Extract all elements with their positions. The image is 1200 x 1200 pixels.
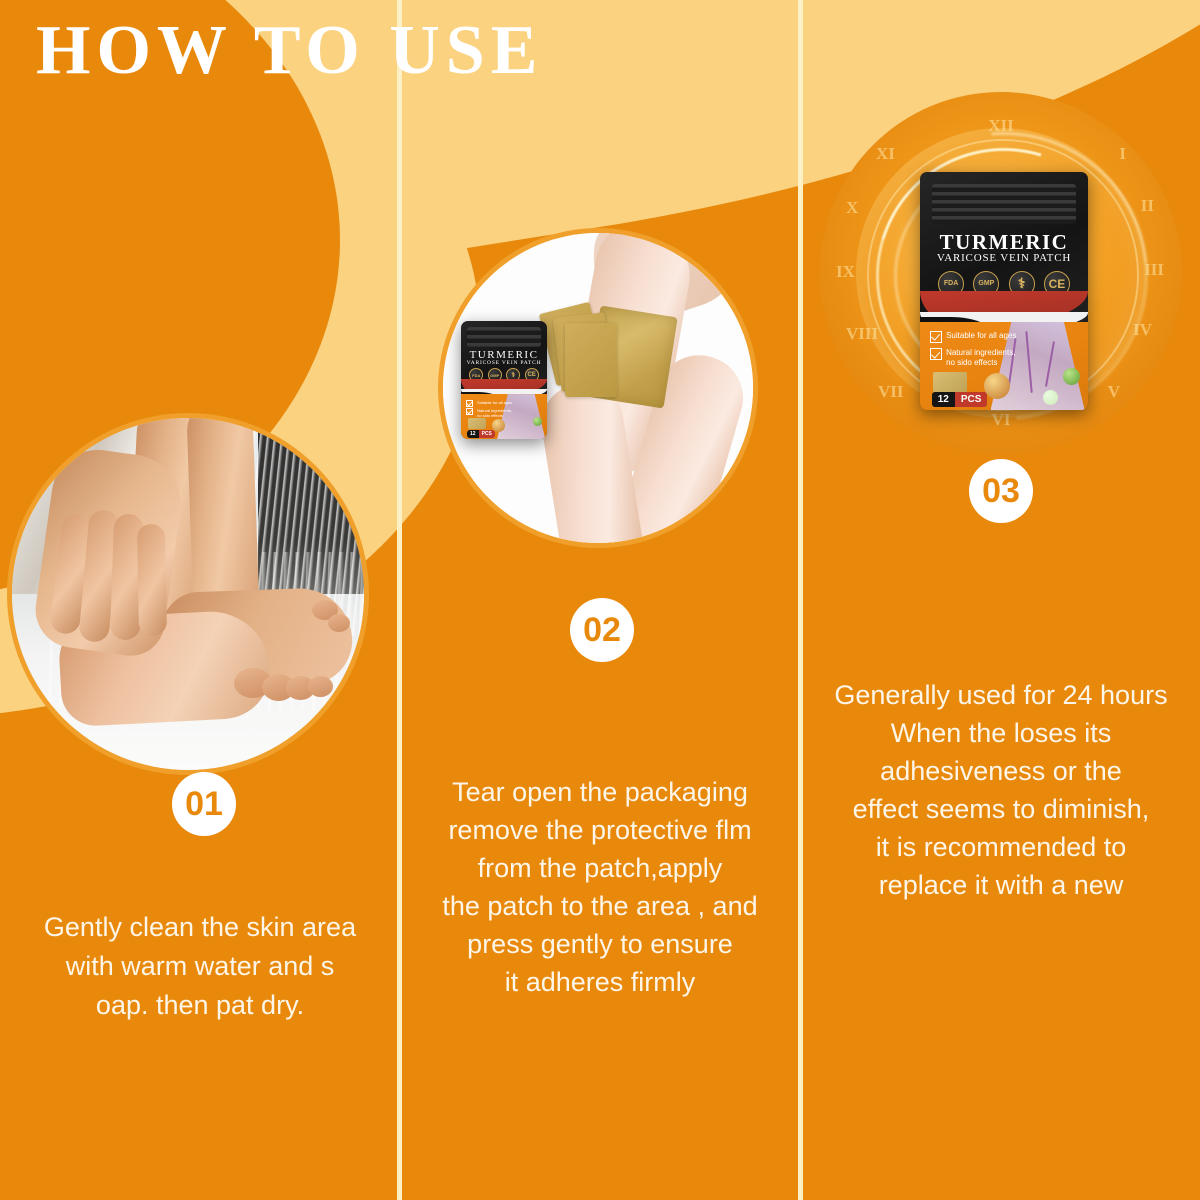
clock-numeral: II bbox=[1141, 196, 1154, 216]
step-1-photo bbox=[12, 418, 364, 770]
finger bbox=[137, 524, 167, 636]
clock-numeral: V bbox=[1108, 382, 1120, 402]
clock-numeral: IX bbox=[836, 262, 855, 282]
package-subtitle: VARICOSE VEIN PATCH bbox=[461, 360, 547, 366]
column-divider-1 bbox=[397, 0, 402, 1200]
package-lower-panel: Suitable for all ages Natural ingredient… bbox=[920, 322, 1088, 410]
feature-label: Suitable for all ages bbox=[946, 331, 1016, 340]
step-2-number-badge: 02 bbox=[570, 598, 634, 662]
vein-stroke bbox=[1045, 341, 1055, 386]
toe bbox=[328, 614, 350, 632]
feature-label: Suitable for all ages bbox=[477, 400, 512, 405]
step-2-photo: TURMERIC VARICOSE VEIN PATCH FDA GMP ⚕ C… bbox=[443, 233, 753, 543]
page-title: HOW TO USE bbox=[36, 14, 543, 88]
count-badge: 12 PCS bbox=[467, 430, 495, 438]
natural-leaf-icon bbox=[1063, 368, 1080, 385]
step-3-photo: XII I II III IV V VI VII VIII IX X XI TU… bbox=[820, 92, 1182, 454]
package-zipper-icon bbox=[932, 184, 1077, 224]
count-unit: PCS bbox=[955, 392, 988, 407]
checkbox-icon bbox=[466, 400, 473, 407]
step-1-number-badge: 01 bbox=[172, 772, 236, 836]
count-value: 12 bbox=[467, 430, 479, 438]
checkbox-icon bbox=[466, 408, 473, 415]
column-divider-2 bbox=[798, 0, 803, 1200]
patch-thumbnail bbox=[468, 418, 486, 429]
feature-item: Natural ingredients, no sido effects bbox=[466, 408, 512, 418]
step-3-number-badge: 03 bbox=[969, 459, 1033, 523]
step-3-caption: Generally used for 24 hours When the los… bbox=[806, 676, 1196, 904]
checkbox-icon bbox=[930, 348, 942, 360]
feature-label: Natural ingredients, no sido effects bbox=[477, 408, 512, 418]
product-package: TURMERIC VARICOSE VEIN PATCH FDA GMP ⚕ C… bbox=[920, 172, 1088, 410]
clock-numeral: VII bbox=[878, 382, 904, 402]
loose-patch bbox=[565, 323, 617, 397]
step-1-caption: Gently clean the skin area with warm wat… bbox=[10, 908, 390, 1025]
toe bbox=[308, 676, 333, 697]
vein-stroke bbox=[1026, 331, 1033, 393]
package-zipper-icon bbox=[467, 327, 541, 347]
package-lower-panel: Suitable for all ages Natural ingredient… bbox=[461, 394, 547, 439]
feature-item: Suitable for all ages bbox=[930, 331, 1016, 343]
step-2-caption: Tear open the packaging remove the prote… bbox=[408, 773, 792, 1001]
patch-thumbnail bbox=[933, 372, 967, 392]
package-subtitle: VARICOSE VEIN PATCH bbox=[920, 252, 1088, 264]
feature-label: Natural ingredients, no sido effects bbox=[946, 348, 1015, 368]
feature-item: Natural ingredients, no sido effects bbox=[930, 348, 1015, 368]
product-package-mini: TURMERIC VARICOSE VEIN PATCH FDA GMP ⚕ C… bbox=[461, 321, 547, 439]
count-value: 12 bbox=[932, 392, 955, 407]
check-circle-icon bbox=[1043, 390, 1058, 405]
feature-item: Suitable for all ages bbox=[466, 400, 512, 407]
infographic-poster: HOW TO USE 01 Gently clean the skin area… bbox=[0, 0, 1200, 1200]
count-unit: PCS bbox=[479, 430, 495, 438]
clock-numeral: XI bbox=[876, 144, 895, 164]
checkbox-icon bbox=[930, 331, 942, 343]
clock-numeral: X bbox=[846, 198, 858, 218]
count-badge: 12 PCS bbox=[932, 392, 988, 407]
clock-numeral: I bbox=[1119, 144, 1126, 164]
